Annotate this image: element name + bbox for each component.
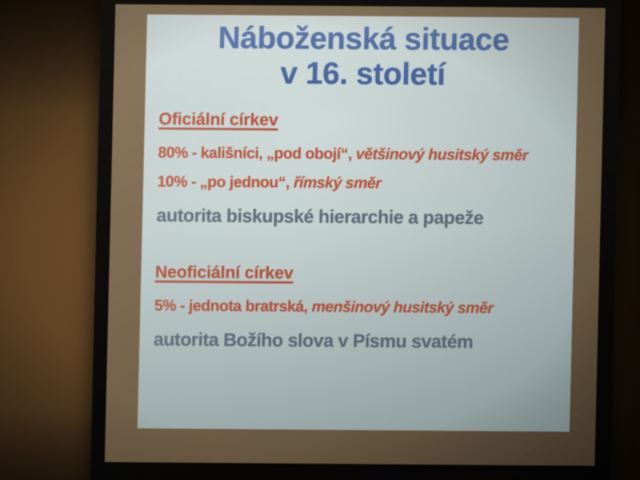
section-heading-neoficialni: Neoficiální církev [155,263,562,286]
section-heading-oficialni: Oficiální církev [158,110,565,133]
bullet-row-10-percent-italic: římský směr [293,175,381,193]
slide-title-line-1: Náboženská situace [218,20,510,57]
slide-content: Náboženská situace v 16. století Oficiál… [137,14,579,431]
bullet-row-10-percent: 10% - „po jednou“, římský směr [157,174,563,195]
bullet-row-80-percent: 80% - kališníci, „pod obojí“, většinový … [158,145,564,166]
slide-title: Náboženská situace v 16. století [159,21,567,94]
projected-slide: Náboženská situace v 16. století Oficiál… [137,14,579,431]
slide-section-neoficialni: Neoficiální církev 5% - jednota bratrská… [153,263,561,354]
bullet-row-5-percent: 5% - jednota bratrská, menšinový husitsk… [154,298,560,319]
bullet-row-10-percent-prefix: 10% - „po jednou“, [157,174,294,192]
bullet-row-5-percent-italic: menšinový husitský směr [311,299,493,317]
photo-canvas: Náboženská situace v 16. století Oficiál… [0,0,640,480]
bullet-row-80-percent-prefix: 80% - kališníci, „pod obojí“, [158,145,356,164]
bullet-row-5-percent-prefix: 5% - jednota bratrská, [154,298,312,316]
slide-section-oficialni: Oficiální církev 80% - kališníci, „pod o… [156,110,565,230]
bullet-row-autorita-biskupske: autorita biskupské hierarchie a papeže [156,205,563,230]
bullet-row-80-percent-italic: většinový husitský směr [356,146,528,164]
bullet-row-autorita-boziho-slova: autorita Božího slova v Písmu svatém [153,329,560,354]
slide-title-line-2: v 16. století [159,55,566,93]
projection-screen: Náboženská situace v 16. století Oficiál… [90,0,622,480]
